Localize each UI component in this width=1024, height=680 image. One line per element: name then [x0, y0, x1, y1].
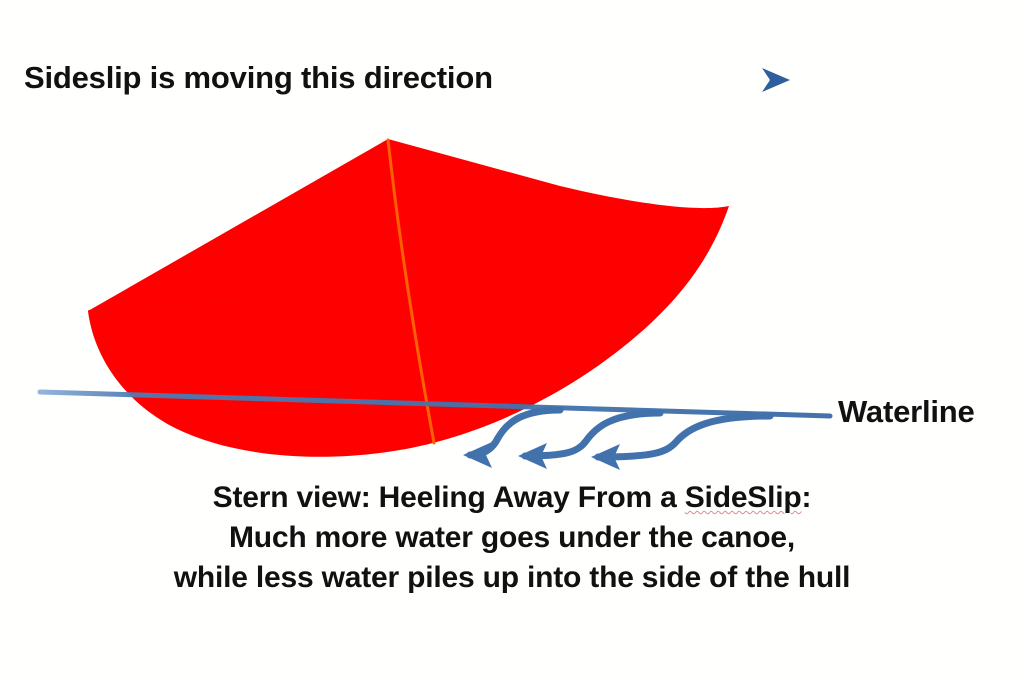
figure-caption: Stern view: Heeling Away From a SideSlip… — [0, 478, 1024, 598]
left-flow-arrow-icon-3 — [598, 416, 770, 457]
caption-line-1-prefix: Stern view: Heeling Away From a — [213, 481, 685, 514]
left-flow-arrow-icon-2 — [525, 413, 660, 456]
caption-line-1: Stern view: Heeling Away From a SideSlip… — [0, 478, 1024, 518]
caption-line-2: Much more water goes under the canoe, — [0, 518, 1024, 558]
waterline-label: Waterline — [838, 394, 975, 430]
right-arrow-icon — [553, 68, 790, 92]
caption-misspelled-word: SideSlip — [685, 481, 802, 514]
diagram-canvas: Sideslip is moving this direction Waterl… — [0, 0, 1024, 680]
caption-line-3: while less water piles up into the side … — [0, 558, 1024, 598]
caption-line-1-suffix: : — [802, 481, 812, 514]
sideslip-direction-label: Sideslip is moving this direction — [24, 60, 493, 96]
left-flow-arrow-icon-group — [470, 410, 770, 457]
